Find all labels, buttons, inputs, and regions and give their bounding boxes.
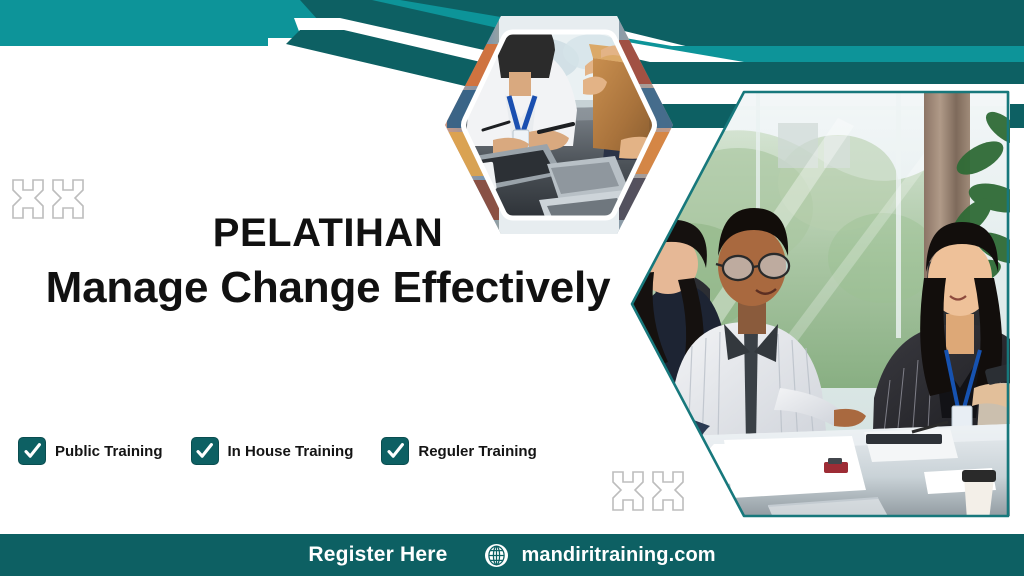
register-here-label[interactable]: Register Here — [308, 543, 447, 567]
training-badge-label: In House Training — [228, 443, 354, 460]
globe-icon — [484, 543, 509, 568]
training-badge-label: Reguler Training — [418, 443, 536, 460]
secondary-photo-hexagon — [443, 14, 675, 236]
check-icon — [191, 437, 219, 465]
page-title: Manage Change Effectively — [0, 260, 650, 315]
headline-kicker: PELATIHAN — [0, 212, 650, 254]
headline-block: PELATIHAN Manage Change Effectively — [0, 212, 650, 315]
training-badge-label: Public Training — [55, 443, 163, 460]
website-url[interactable]: mandiritraining.com — [522, 544, 716, 567]
hero-photo-content — [628, 88, 1010, 520]
poster-canvas: PELATIHAN Manage Change Effectively Publ… — [0, 0, 1024, 576]
hero-photo-hexagon — [628, 88, 1010, 520]
website-group[interactable]: mandiritraining.com — [484, 543, 716, 568]
training-badge-in-house[interactable]: In House Training — [191, 437, 354, 465]
footer-bar: Register Here mandiritraining.com — [0, 534, 1024, 576]
secondary-photo-inner — [443, 14, 675, 236]
training-badge-public[interactable]: Public Training — [18, 437, 163, 465]
check-icon — [381, 437, 409, 465]
check-icon — [18, 437, 46, 465]
training-badge-reguler[interactable]: Reguler Training — [381, 437, 536, 465]
training-type-list: Public Training In House Training Regule… — [18, 437, 537, 465]
